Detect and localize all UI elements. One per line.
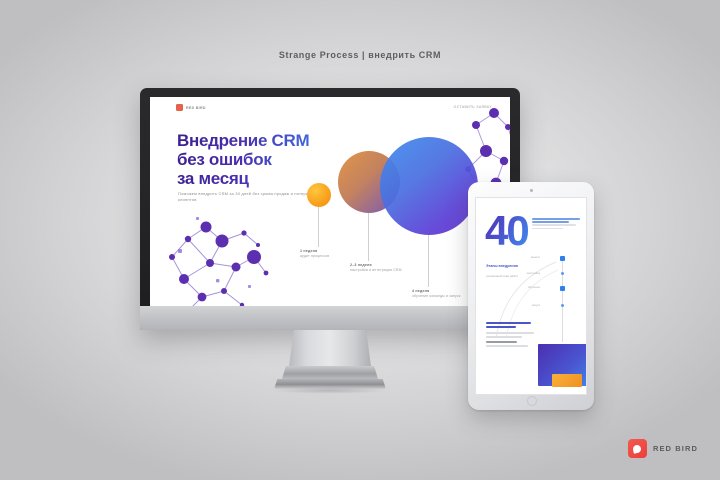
timeline-node-4 — [561, 304, 564, 307]
stage-label-2-text: настройка и интеграция CRM — [350, 268, 402, 272]
tablet-promo-card-accent — [552, 374, 582, 387]
stage-circle-small — [307, 183, 331, 207]
stage-label-1-text: аудит процессов — [300, 254, 329, 258]
tablet-result-block — [486, 322, 538, 349]
monitor-chin — [140, 306, 520, 330]
tablet-camera-icon — [530, 189, 533, 192]
site-logo[interactable]: RED BIRD — [176, 104, 206, 111]
timeline-node-3 — [560, 286, 565, 291]
desktop-monitor: RED BIRD ОСТАВИТЬ ЗАЯВКУ Внедрение CRM б… — [140, 88, 520, 330]
website-mockup: RED BIRD ОСТАВИТЬ ЗАЯВКУ Внедрение CRM б… — [150, 97, 510, 306]
stat-note — [532, 218, 580, 231]
molecule-graphic-left — [158, 205, 278, 306]
monitor-shadow — [252, 386, 408, 395]
timeline-label-2: настройка — [504, 271, 540, 275]
stage-circle-large — [380, 137, 478, 235]
bird-icon — [628, 439, 647, 458]
tablet-home-button[interactable] — [527, 396, 537, 406]
stage-label-3-text: обучение команды и запуск — [412, 294, 461, 298]
result-bar-line-4 — [486, 345, 528, 347]
result-bar-line-1 — [486, 332, 534, 334]
site-logo-icon — [176, 104, 183, 111]
brand-name: RED BIRD — [653, 444, 698, 453]
stat-note-line-4 — [532, 228, 563, 230]
stat-note-line-2 — [532, 221, 569, 223]
timeline-node-2 — [561, 272, 564, 275]
circle-leader-line-1 — [318, 207, 319, 247]
timeline-label-3: обучение — [504, 285, 540, 289]
project-title: Strange Process | внедрить CRM — [0, 50, 720, 60]
monitor-stand-neck — [289, 330, 371, 366]
stat-note-line-3 — [532, 224, 576, 226]
timeline-label-4: запуск — [504, 303, 540, 307]
stat-note-line-1 — [532, 218, 580, 220]
monitor-screen: RED BIRD ОСТАВИТЬ ЗАЯВКУ Внедрение CRM б… — [150, 97, 510, 306]
tablet-screen: 40 Этапы внедрения пошаговый план работ … — [475, 197, 587, 395]
circle-leader-line-2 — [368, 213, 369, 261]
result-bar-line-2 — [486, 336, 522, 338]
stage-label-1: 1 неделя аудит процессов — [300, 249, 352, 259]
result-bar-title — [486, 322, 531, 324]
circle-leader-line-3 — [428, 235, 429, 287]
timeline-label-1: анализ — [504, 255, 540, 259]
stage-label-2: 2–3 неделя настройка и интеграция CRM — [350, 263, 422, 273]
tablet-timeline-axis — [562, 258, 563, 342]
site-logo-label: RED BIRD — [186, 106, 206, 110]
screenshot-stage: Strange Process | внедрить CRM RED BIRD … — [0, 0, 720, 480]
monitor-stand-column — [282, 366, 378, 379]
bird-icon-shape — [633, 444, 642, 453]
site-subheadline: Поможем внедрить CRM за 30 дней без срыв… — [178, 191, 328, 203]
brand-lockup: RED BIRD — [628, 439, 698, 458]
result-bar-title-2 — [486, 326, 516, 328]
result-bar-line-3 — [486, 341, 517, 343]
stat-big-number: 40 — [485, 210, 528, 252]
tablet-device: 40 Этапы внедрения пошаговый план работ … — [468, 182, 594, 410]
timeline-node-1 — [560, 256, 565, 261]
